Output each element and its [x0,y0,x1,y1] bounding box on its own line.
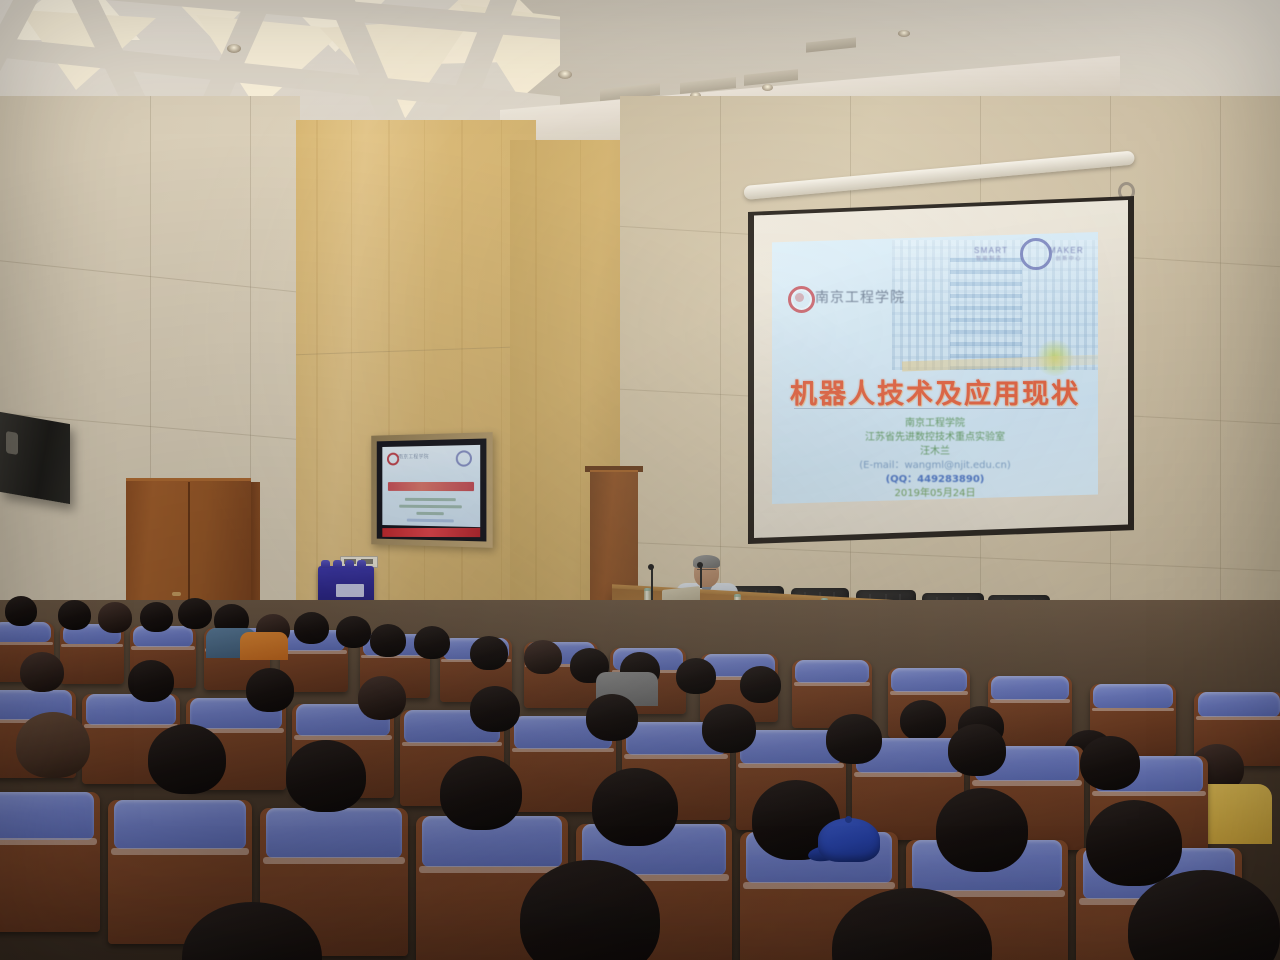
audience-head [900,700,946,741]
audience-head [586,694,638,741]
smart-logo-right-word: MAKER [1049,246,1084,255]
downlight-icon [558,70,572,79]
nit-ring-icon [788,286,815,313]
slide-title-underline [794,408,1076,409]
audience-head [286,740,366,812]
microphone-stand [651,568,653,602]
slide-qq-line: (QQ：449283890) [772,470,1098,485]
audience-head [128,660,174,702]
seat[interactable] [60,624,124,684]
audience-head [5,596,37,626]
smart-lab-logo: SMART MAKER 智能制造 创新中心 [974,238,1084,268]
audience-head [524,640,562,674]
audience-head [178,598,212,629]
downlight-icon [762,84,773,91]
audience-head [592,768,678,846]
audience-head [948,724,1006,776]
audience-head [440,756,522,830]
audience-head [98,602,132,633]
audience-head [826,714,882,764]
door-handle-icon[interactable] [172,592,181,596]
monitor-logo-text: 南京工程学院 [398,453,429,460]
audience-head [702,704,756,753]
audience-head [1080,736,1140,790]
water-crate-label [336,584,364,597]
slide-org-line-2: 江苏省先进数控技术重点实验室 [772,428,1098,443]
audience-head [336,616,371,648]
baseball-cap [818,818,880,862]
monitor-title-bar [388,482,474,491]
projected-slide: 南京工程学院 SMART MAKER 智能制造 创新中心 机器人技术及应用现状 … [772,232,1098,504]
slide-email-line: (E-mail：wangml@njit.edu.cn) [772,456,1098,471]
audience-shirt-orange [240,632,288,660]
audience-head [358,676,406,720]
cap-button-icon [845,816,852,823]
speaker-port-icon [6,431,18,455]
lecture-hall-photo: 南京工程学院 南京工程学院 SMART MAKER 智能制造 创新中心 [0,0,1280,960]
audience-head [140,602,173,632]
monitor-logo: 南京工程学院 [387,452,431,463]
monitor-accent-bar [382,528,480,537]
audience-head [294,612,329,644]
university-logo: 南京工程学院 [788,284,918,310]
microphone-icon [648,564,654,570]
audience-head [20,652,64,692]
audience-head [470,686,520,732]
university-logo-text: 南京工程学院 [815,287,905,307]
monitor-smart-logo [446,450,476,462]
downlight-icon [227,44,241,53]
monitor-sub-line [405,498,456,501]
monitor-sub-line [399,505,462,509]
wall-loudspeaker [0,412,70,504]
audience-head [470,636,508,670]
slide-background-building-2 [950,252,1022,370]
audience-head [676,658,716,694]
microphone-icon [697,562,703,568]
smart-logo-left-word: SMART [974,246,1008,255]
slide-speaker-name: 汪木兰 [772,442,1098,457]
smart-logo-right-sub: 创新中心 [1056,255,1082,262]
smart-logo-left-sub: 智能制造 [976,255,1002,262]
seat[interactable] [0,792,100,932]
audience-head [370,624,406,657]
audience-head [1086,800,1182,886]
monitor-sub-line [416,512,443,515]
wall-monitor-screen[interactable]: 南京工程学院 [382,445,480,527]
audience-head [148,724,226,794]
audience-head [246,668,294,712]
audience-head [414,626,450,659]
audience-head [58,600,91,630]
smart-ring-icon [1020,238,1052,270]
monitor-sub-line [407,519,454,523]
audience-head [936,788,1028,872]
audience-head [740,666,781,703]
microphone-stand [700,566,702,588]
slide-org-line-1: 南京工程学院 [772,414,1098,429]
downlight-icon [898,30,910,37]
audience-head [16,712,90,778]
slide-title: 机器人技术及应用现状 [772,372,1098,411]
